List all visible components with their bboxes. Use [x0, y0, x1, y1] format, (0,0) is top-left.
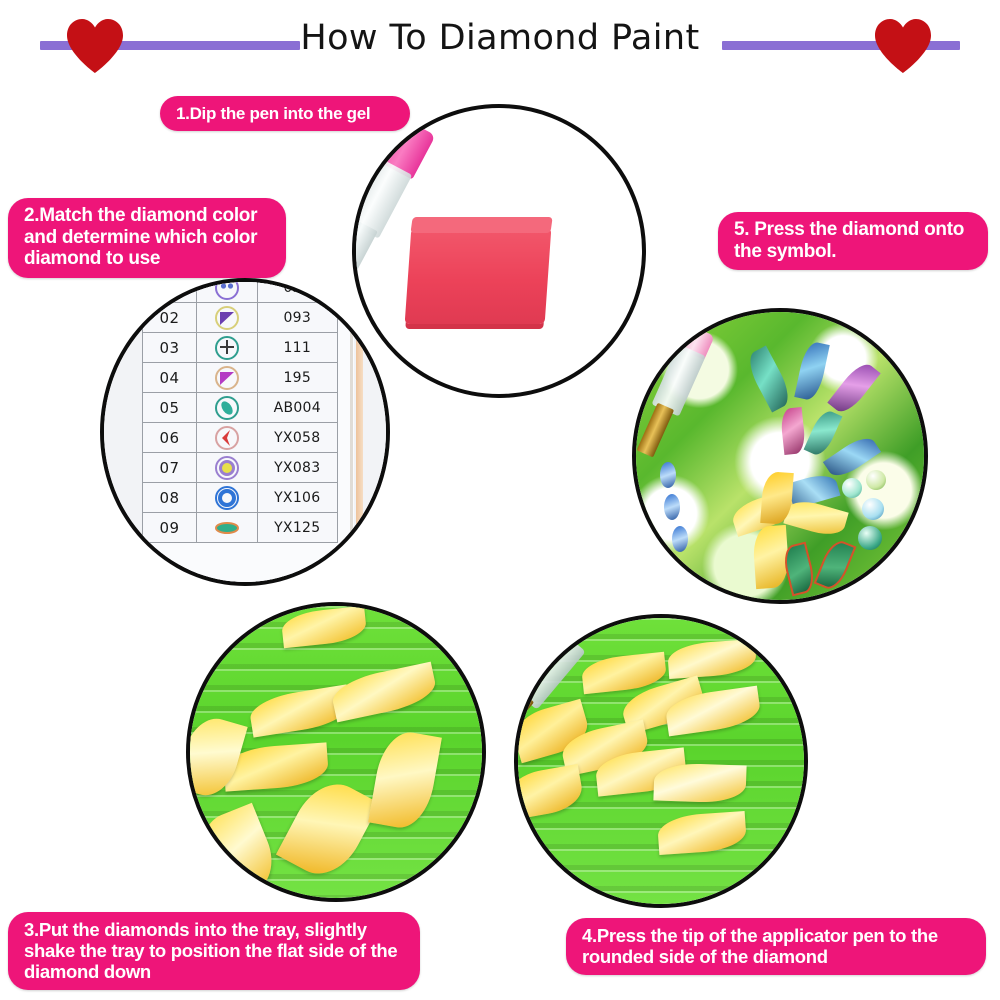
table-row: 02093	[143, 303, 338, 333]
chart-cell-code: 111	[257, 333, 337, 363]
gem	[794, 340, 830, 402]
header: How To Diamond Paint	[0, 0, 1000, 86]
diamond	[667, 639, 757, 679]
table-row: 03111	[143, 333, 338, 363]
chart-cell-symbol	[196, 393, 257, 423]
chart-cell-symbol	[196, 278, 257, 303]
table-row: 08YX106	[143, 483, 338, 513]
chart-cell-code: AB004	[257, 393, 337, 423]
step-4-photo	[514, 614, 808, 908]
diamond	[657, 811, 747, 855]
gel-pad	[405, 228, 552, 324]
diamond	[280, 606, 367, 649]
double-dot-circle-icon	[197, 278, 257, 301]
chart-cell-code: 093	[257, 303, 337, 333]
gem	[827, 359, 880, 418]
gem	[743, 346, 795, 413]
gem-green	[814, 537, 857, 593]
applicator-pen	[632, 319, 726, 504]
chart-cell-number: 08	[143, 483, 197, 513]
chart-cell-number	[143, 278, 197, 303]
chart-cell-number: 07	[143, 453, 197, 483]
diamond	[653, 762, 746, 803]
dot-ring-icon	[197, 454, 257, 481]
table-row: 020	[143, 278, 338, 303]
chart-cell-code: YX106	[257, 483, 337, 513]
gem	[842, 478, 862, 498]
chart-cell-code: YX125	[257, 513, 337, 543]
diamond	[329, 662, 439, 723]
chart-cell-number: 03	[143, 333, 197, 363]
chart-cell-code: YX058	[257, 423, 337, 453]
step-4-label: 4.Press the tip of the applicator pen to…	[566, 918, 986, 975]
diamond	[276, 772, 380, 887]
chart-cell-symbol	[196, 483, 257, 513]
chart-cell-symbol	[196, 333, 257, 363]
diamond-tray-scene	[518, 618, 804, 904]
diamond-tray-scene	[190, 606, 482, 898]
table-row: 09YX125	[143, 513, 338, 543]
chart-cell-code: 020	[257, 278, 337, 303]
chart-cell-symbol	[196, 303, 257, 333]
table-row: 05AB004	[143, 393, 338, 423]
arc-icon	[197, 424, 257, 451]
step-5-photo	[632, 308, 928, 604]
chart-cell-number: 04	[143, 363, 197, 393]
gem	[804, 408, 843, 459]
gem	[866, 470, 886, 490]
triangle-icon	[197, 364, 257, 391]
diamond	[191, 803, 284, 902]
gem	[862, 498, 884, 520]
gel-scene	[356, 108, 642, 394]
chart-cell-symbol	[196, 513, 257, 543]
gem-green	[780, 542, 817, 597]
chart-cell-symbol	[196, 423, 257, 453]
chart-cell-symbol	[196, 363, 257, 393]
oval-fill-icon	[197, 394, 257, 421]
gem	[858, 526, 882, 550]
diamond	[368, 728, 442, 833]
chart-cell-code: YX083	[257, 453, 337, 483]
plus-icon	[197, 334, 257, 361]
diamond-canvas-scene	[636, 312, 924, 600]
gem	[780, 407, 807, 455]
chart-paper-edge	[356, 282, 363, 582]
infographic-canvas: How To Diamond Paint 1.Dip the pen into …	[0, 0, 1000, 1000]
chart-paper-edge-shadow	[350, 282, 353, 582]
triangle-icon	[197, 304, 257, 331]
step-3-label: 3.Put the diamonds into the tray, slight…	[8, 912, 420, 990]
gem	[672, 526, 688, 552]
chart-cell-number: 05	[143, 393, 197, 423]
chart-cell-symbol	[196, 453, 257, 483]
table-row: 07YX083	[143, 453, 338, 483]
leaf-icon	[197, 514, 257, 541]
chart-cell-number: 09	[143, 513, 197, 543]
ring-icon	[197, 484, 257, 511]
color-chart-scene: 02002093031110419505AB00406YX05807YX0830…	[104, 282, 386, 582]
page-title: How To Diamond Paint	[0, 18, 1000, 58]
step-5-label: 5. Press the diamond onto the symbol.	[718, 212, 988, 270]
step-1-label: 1.Dip the pen into the gel	[160, 96, 410, 131]
chart-cell-number: 06	[143, 423, 197, 453]
chart-cell-code: 195	[257, 363, 337, 393]
chart-cell-number: 02	[143, 303, 197, 333]
table-row: 06YX058	[143, 423, 338, 453]
pen-tip	[637, 403, 675, 458]
gem	[664, 494, 680, 520]
color-code-table: 02002093031110419505AB00406YX05807YX0830…	[142, 278, 338, 543]
table-row: 04195	[143, 363, 338, 393]
step-2-photo: 02002093031110419505AB00406YX05807YX0830…	[100, 278, 390, 586]
step-1-photo	[352, 104, 646, 398]
diamond	[514, 764, 585, 820]
step-3-photo	[186, 602, 486, 902]
step-2-label: 2.Match the diamond color and determine …	[8, 198, 286, 278]
gem-yellow	[783, 496, 848, 539]
